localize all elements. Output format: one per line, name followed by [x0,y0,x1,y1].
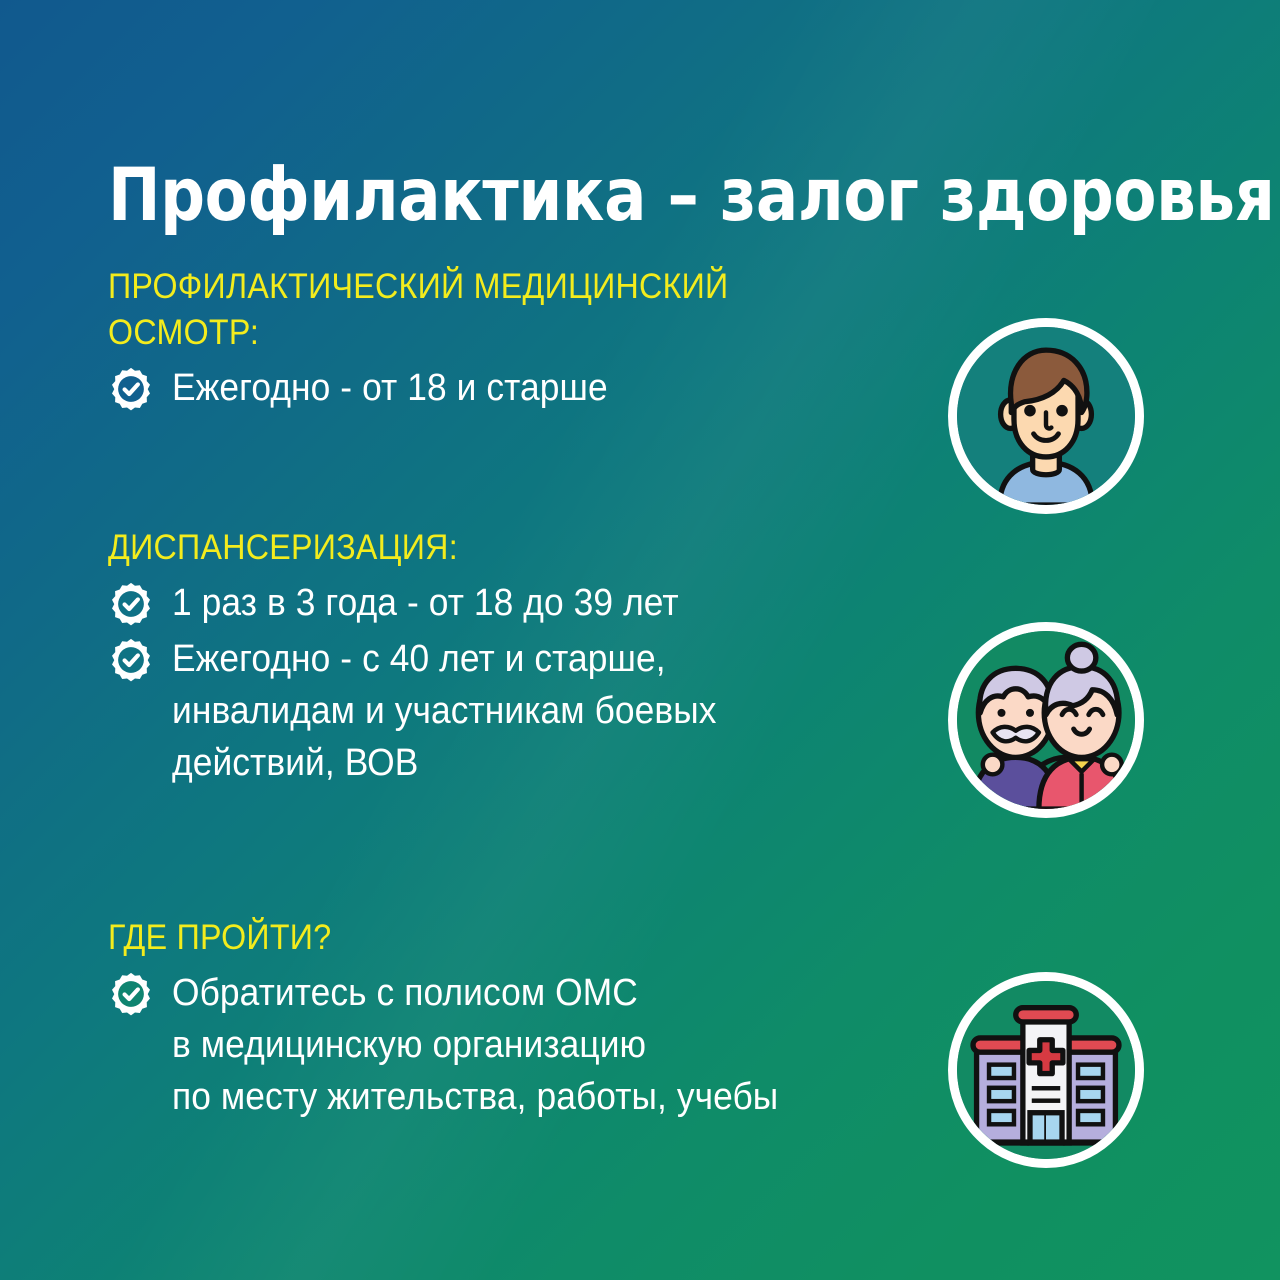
list-item-label: Ежегодно - от 18 и старше [172,362,608,414]
list-item: Обратитесь с полисом ОМС в медицинскую о… [108,967,824,1123]
list-item: Ежегодно - с 40 лет и старше, инвалидам … [108,633,758,789]
elderly-couple-icon [948,622,1144,818]
list-item-label: Ежегодно - с 40 лет и старше, инвалидам … [172,633,717,789]
list-item: 1 раз в 3 года - от 18 до 39 лет [108,577,758,629]
list-item: Ежегодно - от 18 и старше [108,362,782,414]
section-heading: ДИСПАНСЕРИЗАЦИЯ: [108,525,706,571]
section-medical-examination: ДИСПАНСЕРИЗАЦИЯ: 1 раз в 3 года - от 18 … [108,525,758,789]
check-badge-icon [108,581,154,627]
section-heading: ПРОФИЛАКТИЧЕСКИЙ МЕДИЦИНСКИЙ ОСМОТР: [108,264,728,356]
check-badge-icon [108,971,154,1017]
infographic-poster: Профилактика – залог здоровья! ПРОФИЛАКТ… [0,0,1280,1280]
young-man-avatar-icon [948,318,1144,514]
check-badge-icon [108,637,154,683]
check-badge-icon [108,366,154,412]
list-item-label: 1 раз в 3 года - от 18 до 39 лет [172,577,679,629]
section-where-to-go: ГДЕ ПРОЙТИ? Обратитесь с полисом ОМС в м… [108,915,824,1123]
hospital-building-icon [948,972,1144,1168]
list-item-label: Обратитесь с полисом ОМС в медицинскую о… [172,967,778,1123]
section-heading: ГДЕ ПРОЙТИ? [108,915,767,961]
section-preventive-checkup: ПРОФИЛАКТИЧЕСКИЙ МЕДИЦИНСКИЙ ОСМОТР: Еже… [108,264,782,414]
